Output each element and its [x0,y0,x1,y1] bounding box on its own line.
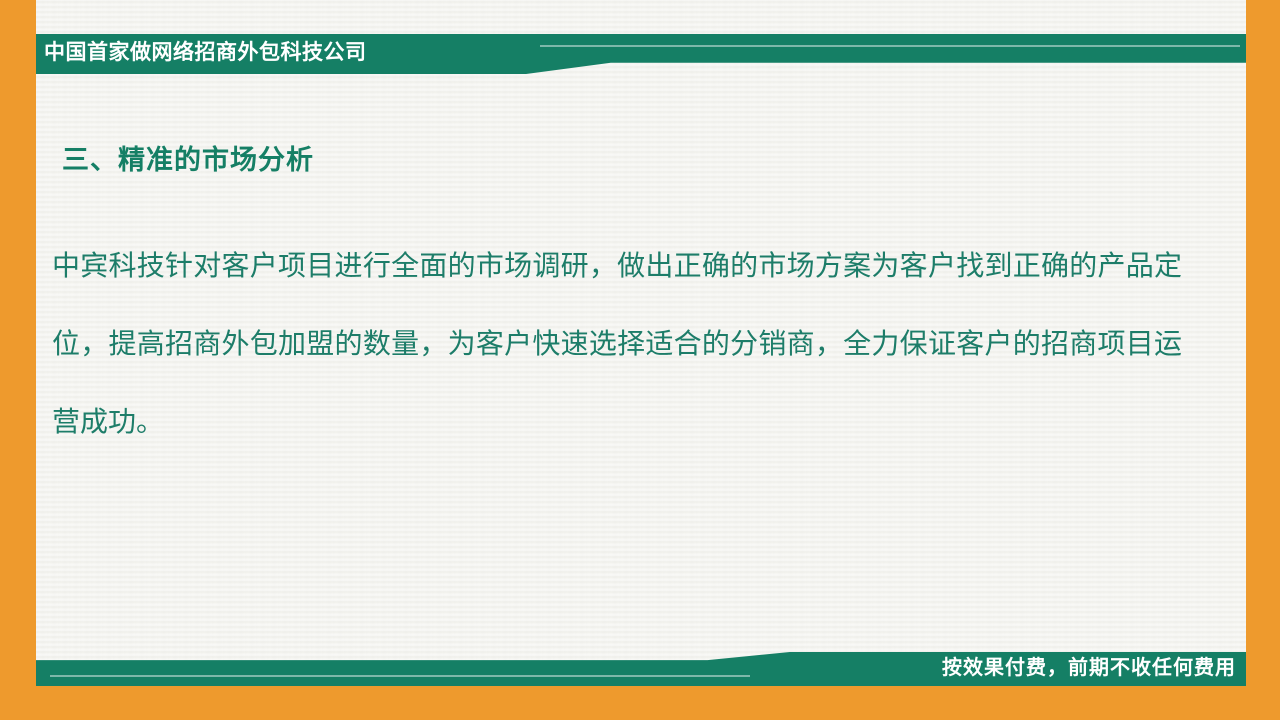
header-hairline-divider [540,45,1240,47]
body-paragraph: 中宾科技针对客户项目进行全面的市场调研，做出正确的市场方案为客户找到正确的产品定… [52,228,1182,462]
section-heading: 三、精准的市场分析 [62,138,314,177]
footer-hairline-divider [50,675,750,677]
footer-tagline: 按效果付费，前期不收任何费用 [942,653,1236,683]
slide-canvas: 中国首家做网络招商外包科技公司 三、精准的市场分析 中宾科技针对客户项目进行全面… [0,0,1280,720]
header-title: 中国首家做网络招商外包科技公司 [44,37,604,69]
bottom-orange-border [0,686,1280,720]
